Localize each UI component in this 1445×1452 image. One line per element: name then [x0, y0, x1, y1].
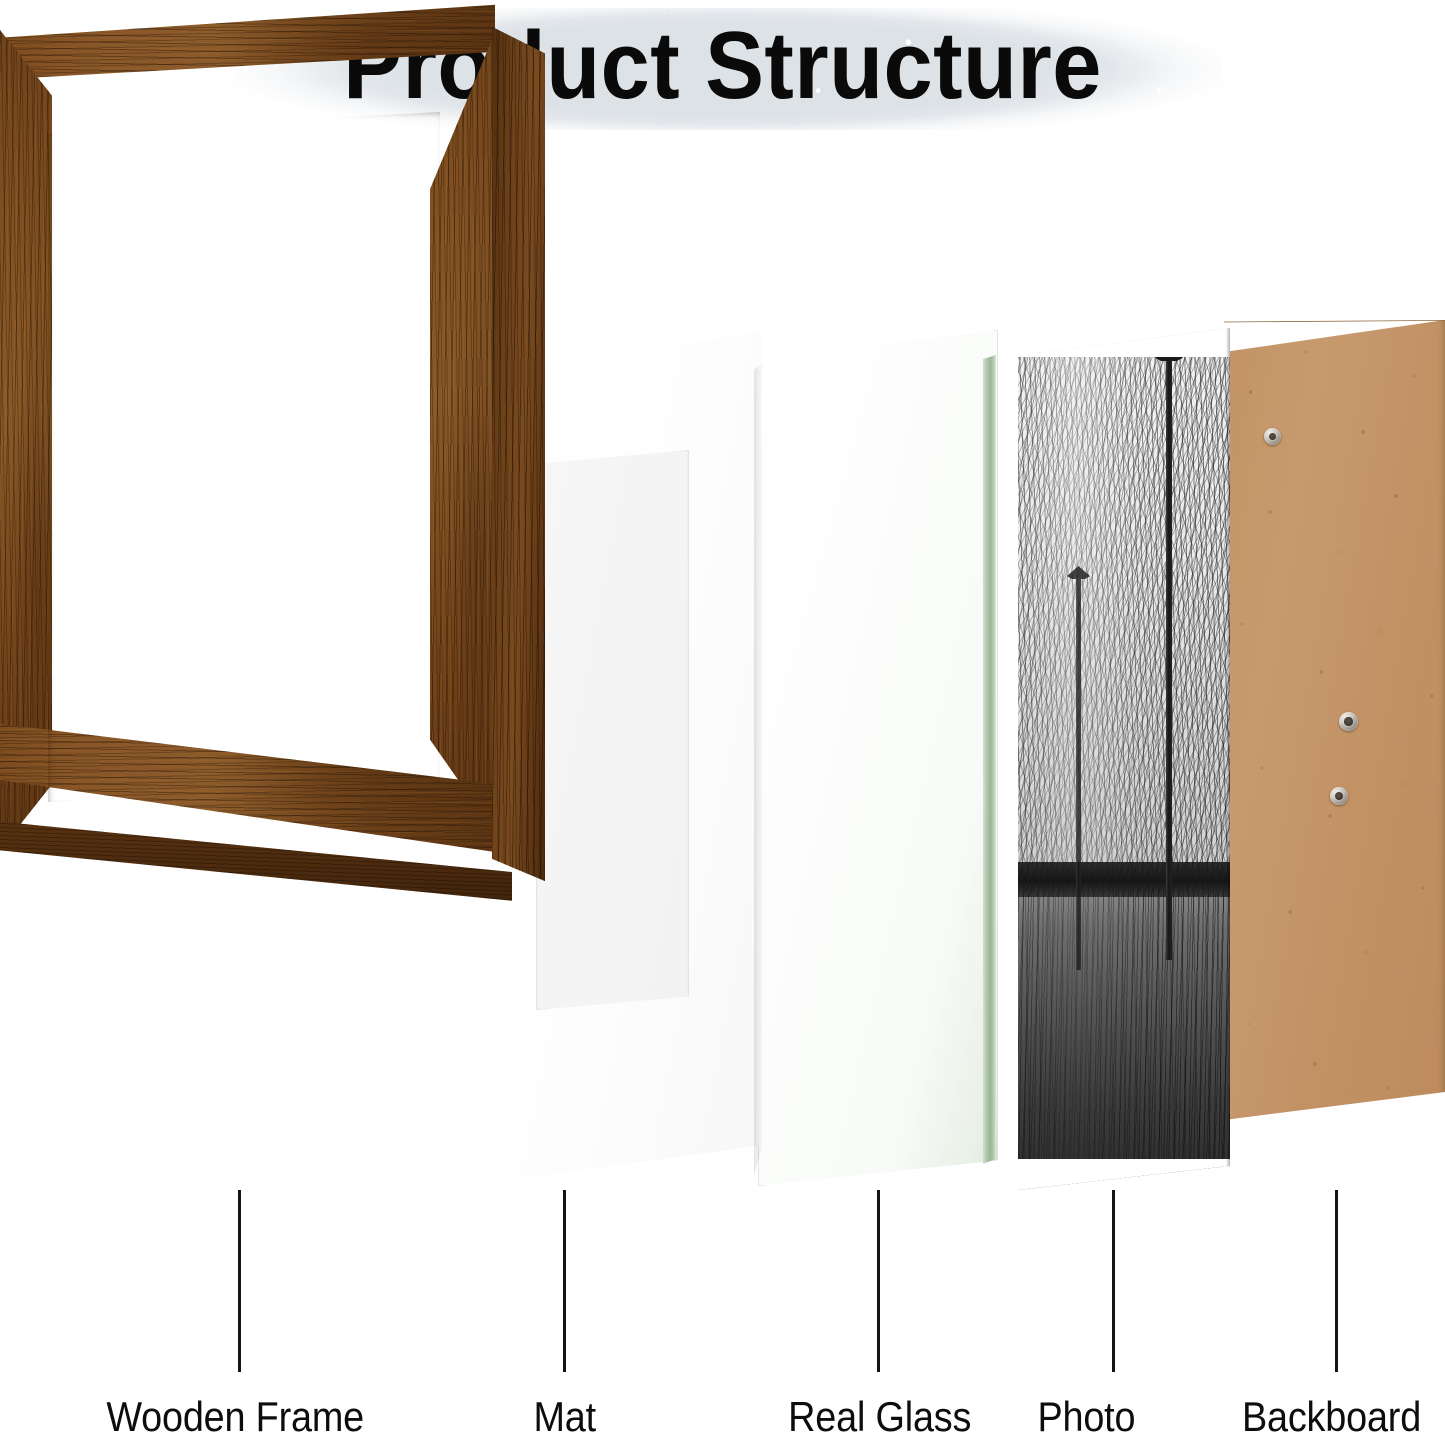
frame-inner-opening: [48, 112, 440, 802]
photo-water-reflections: [1018, 897, 1230, 1190]
layer-labels-group: Wooden Frame Mat Real Glass Photo Backbo…: [0, 1392, 1445, 1452]
photo-white-border-top: [1018, 328, 1230, 357]
photo-image: [1018, 328, 1230, 1190]
leader-line-real-glass: [877, 1190, 880, 1372]
frame-top-rail: [0, 0, 495, 118]
label-real-glass: Real Glass: [788, 1392, 971, 1442]
glass-green-edge: [983, 330, 996, 1188]
leader-line-photo: [1112, 1190, 1115, 1372]
grommet-eyelet-icon: [1264, 428, 1281, 445]
layer-photo[interactable]: [1018, 328, 1230, 1190]
mat-bevel-opening: [536, 450, 689, 1010]
exploded-view-diagram: [0, 0, 1445, 1240]
leader-line-mat: [563, 1190, 566, 1372]
leader-line-backboard: [1335, 1190, 1338, 1372]
grommet-eyelet-icon: [1330, 787, 1348, 805]
label-mat: Mat: [533, 1392, 595, 1442]
photo-bare-trees: [1018, 328, 1230, 897]
grommet-eyelet-icon: [1339, 712, 1358, 731]
photo-edge-shadow: [1226, 328, 1230, 1190]
layer-backboard[interactable]: [1224, 320, 1445, 1120]
frame-right-depth-face: [492, 0, 545, 890]
label-photo: Photo: [1037, 1392, 1135, 1442]
leader-line-wooden-frame: [238, 1190, 241, 1372]
label-backboard: Backboard: [1242, 1392, 1421, 1442]
photo-white-border-bottom: [1018, 1159, 1230, 1190]
photo-lamppost: [1166, 360, 1172, 960]
layer-wooden-frame[interactable]: [0, 0, 545, 900]
label-wooden-frame: Wooden Frame: [106, 1392, 364, 1442]
mat-edge-shadow: [754, 336, 763, 1178]
layer-real-glass[interactable]: [758, 330, 998, 1186]
photo-lamppost: [1076, 578, 1081, 970]
